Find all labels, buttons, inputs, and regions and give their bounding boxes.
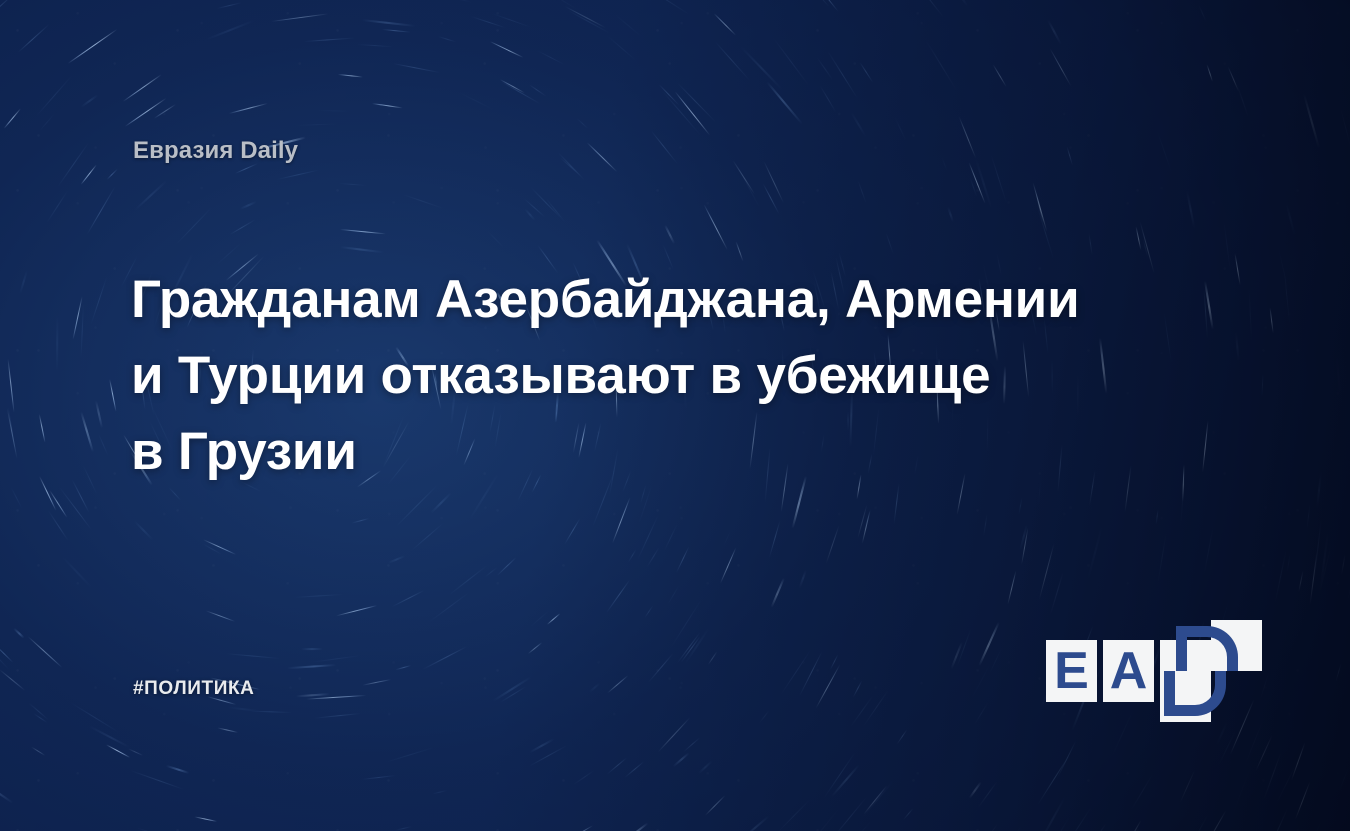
logo-letter-a: A (1103, 640, 1154, 702)
logo-letter-d-upper (1176, 626, 1240, 671)
news-poster: Евразия Daily Гражданам Азербайджана, Ар… (0, 0, 1350, 831)
page-title: Гражданам Азербайджана, Армении и Турции… (131, 262, 1141, 490)
headline-line-3: в Грузии (131, 414, 1141, 490)
logo-letter-d-lower (1164, 671, 1228, 716)
category-tag[interactable]: #ПОЛИТИКА (133, 678, 255, 700)
poster-content: Евразия Daily Гражданам Азербайджана, Ар… (0, 0, 1350, 831)
brand-title: Евразия Daily (133, 137, 298, 165)
logo-letter-e: E (1046, 640, 1097, 702)
headline-line-1: Гражданам Азербайджана, Армении (131, 262, 1141, 338)
headline-line-2: и Турции отказывают в убежище (131, 338, 1141, 414)
ead-logo: E A (1046, 620, 1218, 722)
